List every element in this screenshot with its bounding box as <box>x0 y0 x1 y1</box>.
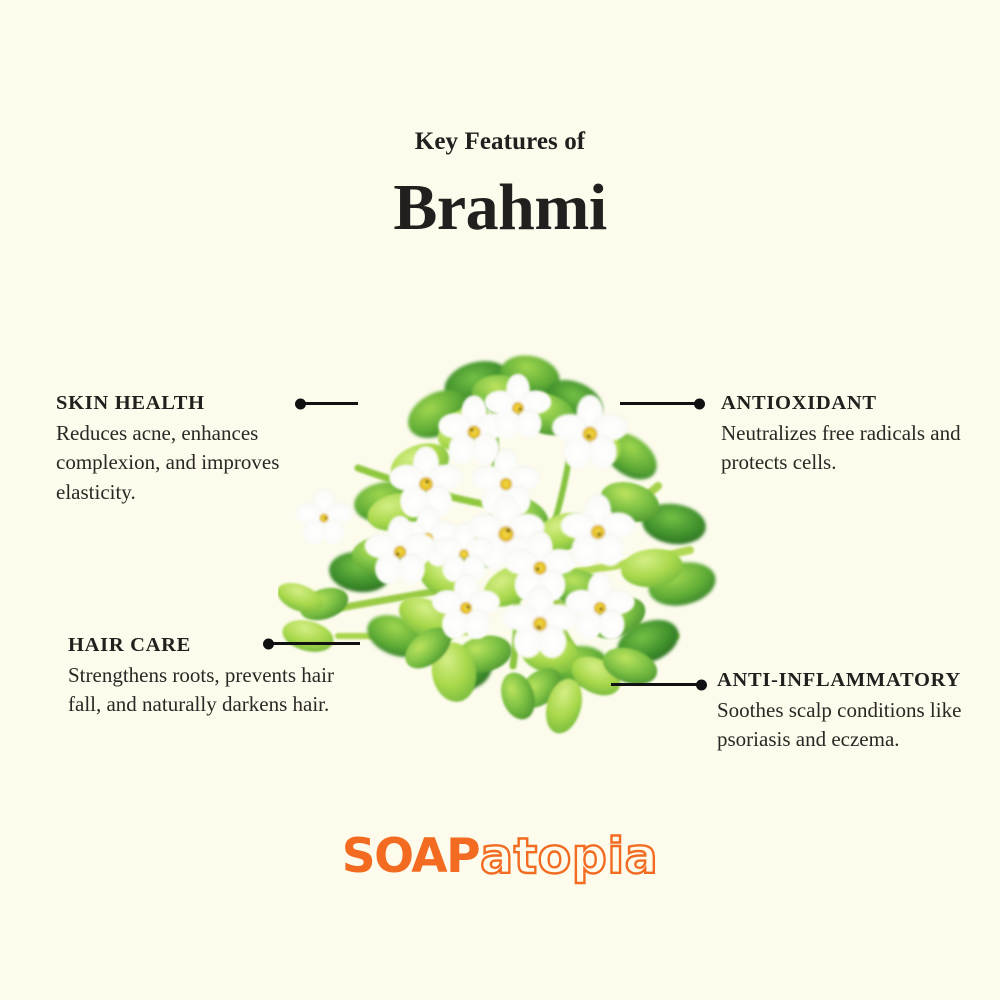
eyebrow-text: Key Features of <box>0 128 1000 156</box>
feature-title: ANTI-INFLAMMATORY <box>717 668 989 694</box>
connector-line-antioxidant <box>620 402 704 405</box>
logo-text-atopia: atopia <box>480 828 658 885</box>
connector-line-anti-inflammatory <box>611 683 706 686</box>
feature-description: Neutralizes free radicals and protects c… <box>721 419 971 479</box>
infographic-canvas: Key Features of Brahmi <box>0 0 1000 1000</box>
feature-title: SKIN HEALTH <box>56 391 324 417</box>
feature-hair-care: HAIR CARE Strengthens roots, prevents ha… <box>68 633 336 720</box>
brahmi-plant-illustration <box>278 336 718 740</box>
feature-skin-health: SKIN HEALTH Reduces acne, enhances compl… <box>56 391 324 508</box>
feature-antioxidant: ANTIOXIDANT Neutralizes free radicals an… <box>721 391 971 478</box>
logo-text-soap: SOAP <box>342 829 479 884</box>
page-title: Brahmi <box>0 172 1000 243</box>
brand-logo: SOAPatopia <box>0 832 1000 881</box>
connector-dot-icon <box>696 679 707 690</box>
feature-anti-inflammatory: ANTI-INFLAMMATORY Soothes scalp conditio… <box>717 668 989 755</box>
feature-title: HAIR CARE <box>68 633 336 659</box>
feature-description: Soothes scalp conditions like psoriasis … <box>717 696 989 756</box>
feature-description: Strengthens roots, prevents hair fall, a… <box>68 661 336 721</box>
header: Key Features of Brahmi <box>0 128 1000 243</box>
feature-description: Reduces acne, enhances complexion, and i… <box>56 419 324 508</box>
feature-title: ANTIOXIDANT <box>721 391 971 417</box>
connector-dot-icon <box>694 398 705 409</box>
